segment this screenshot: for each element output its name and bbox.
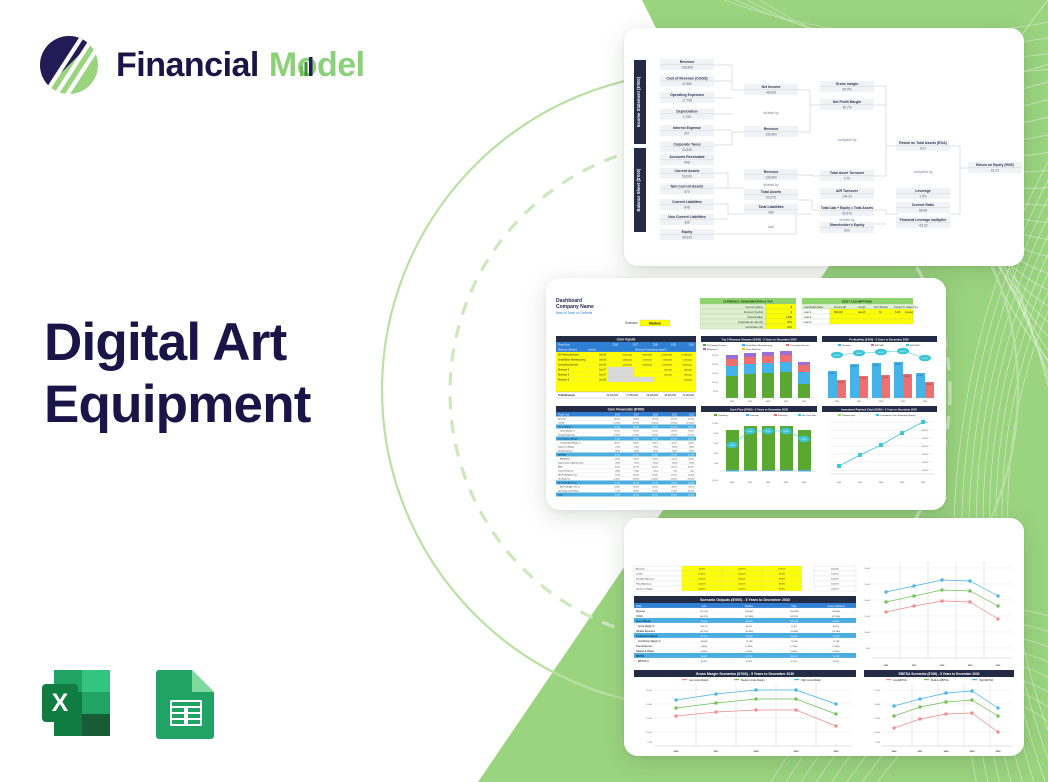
- svg-text:8,000: 8,000: [713, 433, 718, 435]
- svg-text:10,000: 10,000: [646, 732, 652, 734]
- svg-text:27,800,000: 27,800,000: [627, 395, 639, 397]
- svg-text:Variable Expenses: Variable Expenses: [636, 578, 655, 581]
- svg-text:64.0%: 64.0%: [834, 355, 840, 357]
- svg-text:2027: 2027: [634, 414, 640, 416]
- svg-text:Interest Expense: Interest Expense: [558, 470, 574, 473]
- svg-text:25,000: 25,000: [864, 584, 870, 586]
- svg-text:Fiscal Year: Fiscal Year: [558, 413, 569, 416]
- dupont-node: Operating Expenses17,758: [660, 92, 714, 103]
- svg-text:2029: 2029: [794, 751, 800, 753]
- svg-text:(9,330): (9,330): [671, 423, 678, 425]
- svg-text:(7800): (7800): [701, 646, 708, 648]
- svg-text:15,684: 15,684: [688, 483, 695, 485]
- svg-text:58.4%: 58.4%: [652, 443, 658, 445]
- svg-text:100.0%: 100.0%: [831, 569, 838, 571]
- svg-text:120.0%: 120.0%: [778, 569, 785, 571]
- svg-text:Accounts Receivable: Accounts Receivable: [669, 155, 704, 159]
- svg-text:90,330: 90,330: [791, 636, 798, 638]
- svg-text:848: 848: [684, 206, 690, 210]
- svg-text:800: 800: [844, 229, 850, 233]
- svg-text:63.1%: 63.1%: [878, 352, 884, 354]
- svg-text:75,538: 75,538: [746, 636, 753, 638]
- svg-text:Revenue Streams: Revenue Streams: [558, 349, 578, 352]
- brand-name-part2: Model: [269, 48, 365, 82]
- svg-text:Currency Name: Currency Name: [745, 306, 763, 309]
- svg-text:11,400: 11,400: [671, 491, 678, 493]
- svg-text:(2,347): (2,347): [614, 479, 621, 481]
- svg-text:Active (Medium): Active (Medium): [827, 605, 844, 608]
- svg-text:527: 527: [684, 132, 690, 136]
- svg-text:57.0%: 57.0%: [922, 358, 928, 360]
- svg-text:164,388: 164,388: [790, 611, 799, 613]
- svg-text:4,000: 4,000: [713, 453, 718, 455]
- bar-group: [780, 351, 792, 398]
- svg-text:8,700: 8,700: [784, 431, 789, 433]
- svg-text:5,000: 5,000: [875, 742, 880, 744]
- svg-text:7,350,000: 7,350,000: [642, 360, 653, 362]
- svg-text:29,500: 29,500: [671, 419, 678, 421]
- svg-text:16,284: 16,284: [633, 439, 640, 441]
- svg-text:(2,000): (2,000): [712, 480, 718, 482]
- svg-text:38,098: 38,098: [701, 641, 708, 643]
- svg-text:Fixed Expenses: Fixed Expenses: [636, 584, 652, 586]
- svg-text:15,000: 15,000: [646, 718, 652, 720]
- svg-text:(7,680): (7,680): [746, 646, 753, 648]
- microsoft-excel-icon[interactable]: X: [36, 662, 118, 744]
- svg-text:2028: 2028: [944, 751, 950, 753]
- svg-text:Investment Payback Chart ($'00: Investment Payback Chart ($'000) - 5 Yea…: [841, 407, 917, 411]
- svg-text:54.2%: 54.2%: [671, 459, 677, 461]
- svg-text:Total Liabilities: Total Liabilities: [758, 205, 783, 209]
- svg-text:Revenue: Revenue: [558, 419, 567, 421]
- svg-text:Revenue: Revenue: [842, 345, 852, 347]
- mini-bar-chart-icon: [299, 56, 316, 76]
- svg-text:Net Cash Flow: Net Cash Flow: [802, 414, 817, 417]
- svg-text:25,000: 25,000: [646, 690, 652, 692]
- svg-text:4,800: 4,800: [730, 445, 735, 447]
- core-inputs-table: Fiscal Year 2026 2027 2028 2029 2030 Rev…: [556, 342, 696, 398]
- dupont-node: Accounts Receivable948: [660, 154, 714, 165]
- svg-text:(460): (460): [689, 451, 694, 453]
- svg-text:8.0%: 8.0%: [895, 311, 901, 314]
- svg-text:17,060: 17,060: [652, 439, 659, 441]
- svg-text:15,000: 15,000: [874, 718, 880, 720]
- svg-text:Cost of Revenue (COGS): Cost of Revenue (COGS): [666, 77, 707, 81]
- brand-name-part1: Financial: [116, 48, 259, 82]
- svg-text:2030: 2030: [689, 414, 695, 416]
- svg-text:Total Assets: Total Assets: [761, 190, 781, 194]
- svg-text:(47,880): (47,880): [745, 616, 753, 618]
- svg-text:10,252: 10,252: [633, 483, 640, 485]
- svg-text:Loan/Grant Name: Loan/Grant Name: [804, 306, 824, 309]
- svg-text:6,538,100: 6,538,100: [662, 365, 673, 367]
- svg-text:Return on Total Assets (ROA): Return on Total Assets (ROA): [899, 141, 946, 145]
- svg-text:Jan-27: Jan-27: [599, 375, 607, 377]
- svg-text:(70): (70): [673, 471, 677, 473]
- card-scenario-outputs[interactable]: RevenueCOGSVariable ExpensesFixed Expens…: [624, 518, 1024, 756]
- dupont-node: Revenue136,800: [744, 126, 798, 137]
- svg-text:33.8%: 33.8%: [614, 487, 620, 489]
- svg-text:17,220: 17,220: [671, 439, 678, 441]
- svg-text:(60,270): (60,270): [700, 616, 708, 618]
- scenario-sheet: RevenueCOGSVariable ExpensesFixed Expens…: [624, 518, 1024, 756]
- svg-text:72,188: 72,188: [791, 641, 798, 643]
- svg-text:570: 570: [684, 190, 690, 194]
- svg-text:35.7%: 35.7%: [842, 106, 851, 110]
- svg-text:Interest: Interest: [905, 311, 913, 314]
- svg-text:2028: 2028: [653, 344, 659, 347]
- svg-text:(380): (380): [615, 451, 620, 453]
- svg-text:(2,780): (2,780): [633, 435, 640, 437]
- svg-text:multiplied by: multiplied by: [838, 138, 857, 142]
- svg-text:Contribution Margin: Contribution Margin: [636, 635, 659, 638]
- svg-text:Currency Symbol: Currency Symbol: [744, 311, 764, 314]
- dupont-node: Total Assets50,576: [744, 189, 798, 200]
- svg-text:630,000: 630,000: [684, 370, 693, 372]
- svg-text:65.0%: 65.0%: [746, 626, 752, 628]
- svg-text:Current Ratio: Current Ratio: [912, 203, 934, 207]
- svg-text:17,300: 17,300: [860, 378, 866, 380]
- svg-text:136,800: 136,800: [832, 611, 841, 613]
- svg-text:100.0%: 100.0%: [831, 584, 838, 586]
- svg-text:Depreciation & Amortisation: Depreciation & Amortisation: [558, 462, 584, 465]
- svg-text:2027: 2027: [633, 344, 639, 347]
- svg-text:52.0%: 52.0%: [746, 661, 752, 663]
- svg-text:10,000: 10,000: [712, 382, 719, 384]
- svg-text:(146): (146): [634, 471, 639, 473]
- svg-text:(740): (740): [634, 447, 639, 449]
- svg-text:Consulting Services: Consulting Services: [558, 364, 579, 367]
- svg-text:300,100: 300,100: [664, 375, 673, 377]
- dupont-node: Return on Total Assets (ROA)0.97: [896, 140, 950, 151]
- dupont-node: Cost of Revenue (COGS)47,880: [660, 76, 714, 87]
- svg-text:20,000: 20,000: [864, 600, 870, 602]
- svg-text:Low Gross Margin: Low Gross Margin: [689, 679, 709, 682]
- svg-text:(13,363): (13,363): [745, 631, 753, 633]
- svg-text:EBITDA Scenarios ($'000) - 5 Y: EBITDA Scenarios ($'000) - 5 Years to De…: [899, 672, 980, 676]
- svg-text:29,200: 29,200: [873, 365, 879, 367]
- scenario-label: Scenario: [625, 321, 638, 325]
- svg-text:-63.22: -63.22: [918, 224, 927, 228]
- svg-text:2026: 2026: [615, 414, 621, 416]
- dashboard-subtitle: Company Name: [556, 304, 594, 310]
- svg-text:948: 948: [684, 161, 690, 165]
- svg-text:6,000: 6,000: [713, 443, 718, 445]
- svg-text:88,900: 88,900: [833, 621, 840, 623]
- svg-text:65.0%: 65.0%: [652, 431, 658, 433]
- svg-text:Jan-27: Jan-27: [599, 370, 607, 372]
- svg-text:65.0%: 65.0%: [833, 626, 839, 628]
- svg-text:30,000: 30,000: [864, 568, 870, 570]
- svg-text:9,436: 9,436: [615, 439, 621, 441]
- svg-text:Fixed Expenses: Fixed Expenses: [636, 646, 653, 648]
- svg-text:15,000: 15,000: [864, 616, 870, 618]
- dupont-node: Depreciation1,765: [660, 109, 714, 120]
- svg-text:38.1%: 38.1%: [688, 487, 694, 489]
- card-dupont-analysis[interactable]: Income Statement ($'000) Balance Sheet (…: [624, 28, 1024, 266]
- svg-text:280,000: 280,000: [684, 375, 693, 377]
- svg-text:Revenue 5: Revenue 5: [558, 375, 570, 377]
- svg-text:8,000,000: 8,000,000: [622, 355, 633, 357]
- svg-text:100.0%: 100.0%: [831, 579, 838, 581]
- svg-text:-: -: [686, 121, 687, 125]
- svg-text:100.0%: 100.0%: [738, 574, 745, 576]
- svg-text:20,000: 20,000: [646, 704, 652, 706]
- svg-text:(440): (440): [672, 451, 677, 453]
- svg-text:Net Profit After Tax: Net Profit After Tax: [558, 482, 578, 485]
- svg-text:50,087: 50,087: [701, 656, 708, 658]
- svg-text:17,758: 17,758: [682, 99, 692, 103]
- svg-text:75,708: 75,708: [833, 656, 840, 658]
- dupont-node: Interest Expense527: [660, 125, 714, 136]
- svg-text:High: High: [792, 605, 798, 608]
- dupont-node: A/R Turnover144.24: [820, 188, 874, 199]
- svg-text:2028: 2028: [754, 751, 760, 753]
- svg-text:6,920,000: 6,920,000: [682, 365, 693, 367]
- svg-text:Non Current Liabilities: Non Current Liabilities: [668, 215, 706, 219]
- svg-text:Investing: Investing: [750, 414, 760, 417]
- svg-text:EBITDA: EBITDA: [636, 655, 645, 658]
- svg-text:Jan-26: Jan-26: [599, 365, 607, 367]
- left-content: Financial Model Digital Art Equipment: [0, 0, 470, 782]
- svg-text:EBITDA: EBITDA: [875, 344, 883, 347]
- svg-text:Total Asset Turnover: Total Asset Turnover: [830, 171, 865, 175]
- svg-text:49,529: 49,529: [682, 236, 692, 240]
- svg-text:15,860: 15,860: [652, 455, 659, 457]
- svg-text:Salaries & Wages: Salaries & Wages: [636, 650, 655, 653]
- svg-text:2026: 2026: [892, 751, 898, 753]
- svg-text:X: X: [52, 689, 69, 717]
- svg-text:4,500,000: 4,500,000: [622, 360, 633, 362]
- svg-text:2030: 2030: [689, 344, 695, 347]
- svg-text:(800): (800): [672, 447, 677, 449]
- svg-text:divided by: divided by: [763, 111, 779, 115]
- svg-text:5,000: 5,000: [865, 648, 870, 650]
- svg-text:105.0%: 105.0%: [698, 574, 705, 576]
- svg-text:Contribution Margin: Contribution Margin: [558, 438, 579, 441]
- dupont-node: Revenue136,800: [744, 169, 798, 180]
- svg-text:25,000: 25,000: [874, 690, 880, 692]
- svg-text:Revenue Forecast for years 5: Revenue Forecast for years 5: [635, 349, 667, 352]
- svg-text:16,000: 16,000: [688, 491, 695, 493]
- core-financials-table: Fiscal Year 20262027202820292030: [556, 412, 696, 497]
- svg-text:Core Financials ($'000): Core Financials ($'000): [608, 407, 645, 411]
- svg-text:105.0%: 105.0%: [698, 584, 705, 586]
- svg-text:Current Liabilities: Current Liabilities: [672, 200, 702, 204]
- svg-text:4,950,000: 4,950,000: [642, 365, 653, 367]
- svg-text:19,000: 19,000: [652, 495, 659, 497]
- svg-text:EBITDA: EBITDA: [558, 454, 566, 457]
- svg-text:55.3%: 55.3%: [688, 459, 694, 461]
- svg-text:Medium Gross Margin: Medium Gross Margin: [741, 679, 765, 682]
- svg-text:7,200,000: 7,200,000: [682, 360, 693, 362]
- svg-text:41,200,000: 41,200,000: [683, 395, 695, 397]
- svg-text:-: -: [686, 105, 687, 109]
- svg-text:EBITDA %: EBITDA %: [560, 458, 570, 461]
- svg-text:12,306,000: 12,306,000: [681, 355, 693, 357]
- svg-text:22,427: 22,427: [688, 467, 695, 469]
- svg-text:10,200: 10,200: [838, 382, 844, 384]
- svg-text:Launch: Launch: [588, 349, 597, 352]
- svg-text:(13,000): (13,000): [687, 423, 695, 425]
- svg-text:Medium EBITDA: Medium EBITDA: [931, 679, 949, 682]
- dupont-node: Net Profit Margin35.7%: [820, 99, 874, 110]
- svg-text:65.0%: 65.0%: [842, 88, 851, 92]
- svg-text:28,200: 28,200: [688, 427, 695, 429]
- google-sheets-icon[interactable]: [144, 662, 226, 744]
- svg-text:144.24: 144.24: [842, 195, 852, 199]
- svg-text:2030: 2030: [636, 605, 642, 608]
- svg-text:2027: 2027: [918, 751, 924, 753]
- svg-text:105.0%: 105.0%: [698, 579, 705, 581]
- svg-text:100.0%: 100.0%: [738, 579, 745, 581]
- svg-text:22,780: 22,780: [688, 455, 695, 457]
- svg-text:2027: 2027: [714, 751, 720, 753]
- svg-text:10,890: 10,890: [671, 483, 678, 485]
- svg-text:Low EBITDA: Low EBITDA: [893, 679, 907, 682]
- svg-text:1,765: 1,765: [683, 115, 691, 119]
- svg-text:75,708: 75,708: [746, 656, 753, 658]
- svg-text:40,000: 40,000: [922, 446, 928, 448]
- svg-text:Operating Cash Flows: Operating Cash Flows: [558, 490, 579, 493]
- svg-text:1,000: 1,000: [786, 316, 793, 319]
- bar-group: [762, 352, 774, 398]
- svg-text:118.7%: 118.7%: [700, 626, 707, 628]
- dupont-node: Current Liabilities848: [660, 199, 714, 210]
- svg-text:15,397: 15,397: [652, 475, 659, 477]
- svg-text:Small Batch Manufacturing: Small Batch Manufacturing: [746, 344, 773, 347]
- svg-text:50,000: 50,000: [922, 438, 928, 440]
- svg-text:16,200: 16,200: [829, 373, 835, 375]
- svg-text:20,536: 20,536: [682, 148, 692, 152]
- svg-text:Gross Margin %: Gross Margin %: [638, 625, 654, 628]
- svg-text:80.0%: 80.0%: [699, 569, 705, 571]
- svg-text:8,400: 8,400: [615, 495, 621, 497]
- svg-text:Total Liab + Equity = Total As: Total Liab + Equity = Total Assets: [821, 206, 873, 210]
- svg-text:65.0%: 65.0%: [614, 431, 620, 433]
- svg-text:41,200: 41,200: [917, 375, 923, 377]
- svg-text:27,800: 27,800: [633, 419, 640, 421]
- scenario-assumptions: RevenueCOGSVariable ExpensesFixed Expens…: [634, 566, 856, 591]
- svg-text:-: -: [686, 88, 687, 92]
- dupont-node: Total Liabilities989: [744, 204, 798, 215]
- svg-text:57.0%: 57.0%: [791, 661, 797, 663]
- svg-text:15,557: 15,557: [671, 475, 678, 477]
- svg-text:Operating Expenses: Operating Expenses: [670, 93, 704, 97]
- svg-text:(700): (700): [615, 447, 620, 449]
- svg-text:Cumulative Cash Generated (Spe: Cumulative Cash Generated (Spent): [880, 414, 916, 417]
- svg-text:52.0%: 52.0%: [833, 661, 839, 663]
- svg-text:2,000: 2,000: [713, 463, 718, 465]
- svg-text:420,000: 420,000: [684, 380, 693, 382]
- svg-text:98.0%: 98.0%: [779, 579, 785, 581]
- svg-text:60,000: 60,000: [922, 430, 928, 432]
- svg-text:10,000: 10,000: [864, 632, 870, 634]
- svg-text:19,200: 19,200: [671, 495, 678, 497]
- dupont-node-roe: Return on Equity (ROE) 61.23: [968, 162, 1022, 173]
- svg-text:50,006: 50,006: [682, 175, 692, 179]
- svg-text:Revenue 4: Revenue 4: [707, 349, 718, 351]
- svg-text:8,003: 8,003: [615, 467, 621, 469]
- svg-text:(4,120): (4,120): [688, 435, 695, 437]
- svg-text:Contribution Margin %: Contribution Margin %: [638, 640, 661, 643]
- svg-text:10,939,000: 10,939,000: [661, 355, 673, 357]
- svg-text:5,476: 5,476: [615, 483, 621, 485]
- svg-text:20,000: 20,000: [712, 364, 719, 366]
- svg-text:(18,170): (18,170): [700, 631, 708, 633]
- svg-text:Revenue: Revenue: [636, 611, 646, 613]
- svg-text:26,000: 26,000: [926, 384, 932, 386]
- svg-text:Equity: Equity: [682, 230, 693, 234]
- svg-text:20,000: 20,000: [922, 462, 928, 464]
- svg-text:2030: 2030: [834, 751, 840, 753]
- svg-text:(840): (840): [689, 447, 694, 449]
- card-dashboard[interactable]: Dashboard Company Name Back to Table of …: [546, 278, 946, 510]
- svg-text:29,500,000: 29,500,000: [665, 395, 677, 397]
- svg-text:Operating: Operating: [718, 414, 728, 417]
- svg-text:(420): (420): [653, 451, 658, 453]
- svg-text:71,198: 71,198: [746, 641, 753, 643]
- dupont-node: Current Assets50,006: [660, 168, 714, 179]
- svg-text:Total: Total: [558, 494, 563, 497]
- svg-text:Denomination: Denomination: [748, 316, 764, 319]
- svg-text:Interest Expense: Interest Expense: [673, 126, 701, 130]
- svg-text:10,000: 10,000: [922, 470, 928, 472]
- svg-text:8,700: 8,700: [748, 431, 753, 433]
- svg-text:19,980: 19,980: [652, 427, 659, 429]
- svg-text:(21): (21): [690, 471, 694, 473]
- svg-text:Jan-28: Jan-28: [599, 380, 607, 382]
- svg-text:30%: 30%: [787, 326, 793, 329]
- svg-text:Revenue: Revenue: [680, 60, 695, 64]
- brand-logo[interactable]: Financial Model: [36, 32, 365, 98]
- svg-text:(7,040): (7,040): [791, 646, 798, 648]
- svg-text:75,538: 75,538: [833, 636, 840, 638]
- svg-text:65.0%: 65.0%: [633, 431, 639, 433]
- svg-text:15,000: 15,000: [712, 373, 719, 375]
- svg-text:500,000: 500,000: [834, 311, 843, 314]
- svg-text:High Gross Margin: High Gross Margin: [801, 679, 822, 682]
- svg-text:5,000: 5,000: [713, 391, 719, 393]
- svg-text:29,500: 29,500: [895, 364, 901, 366]
- page-title-line1: Digital Art: [44, 312, 444, 374]
- dupont-node: Total Liab + Equity = Total Assets50,576: [820, 205, 874, 216]
- svg-text:divided by: divided by: [763, 183, 779, 187]
- svg-text:29,200: 29,200: [652, 419, 659, 421]
- svg-text:15,627: 15,627: [671, 467, 678, 469]
- dupont-node: Shareholder's Equity800: [820, 222, 874, 233]
- svg-text:(12,688): (12,688): [790, 631, 798, 633]
- svg-text:50,576: 50,576: [766, 196, 776, 200]
- svg-text:36.9%: 36.9%: [671, 487, 677, 489]
- svg-text:7,306,100: 7,306,100: [662, 360, 673, 362]
- dupont-node: Equity49,529: [660, 229, 714, 240]
- svg-text:3D Printing Services: 3D Printing Services: [707, 344, 728, 347]
- svg-text:3D Printing Services: 3D Printing Services: [558, 354, 580, 357]
- svg-text:Add: Add: [767, 225, 774, 229]
- svg-text:DEBT ASSUMPTIONS: DEBT ASSUMPTIONS: [842, 299, 872, 303]
- svg-text:335: 335: [684, 221, 690, 225]
- svg-text:10,800: 10,800: [633, 491, 640, 493]
- svg-text:14,791: 14,791: [633, 467, 640, 469]
- svg-text:(1,620): (1,620): [614, 435, 621, 437]
- svg-text:36.9%: 36.9%: [652, 487, 658, 489]
- svg-text:Gross Margin: Gross Margin: [558, 426, 572, 429]
- svg-text:29,200,000: 29,200,000: [647, 395, 659, 397]
- svg-text:Net Profit Before Tax: Net Profit Before Tax: [558, 474, 578, 477]
- svg-text:Financing: Financing: [778, 415, 788, 417]
- dupont-node: Leverage1.9%: [896, 188, 950, 199]
